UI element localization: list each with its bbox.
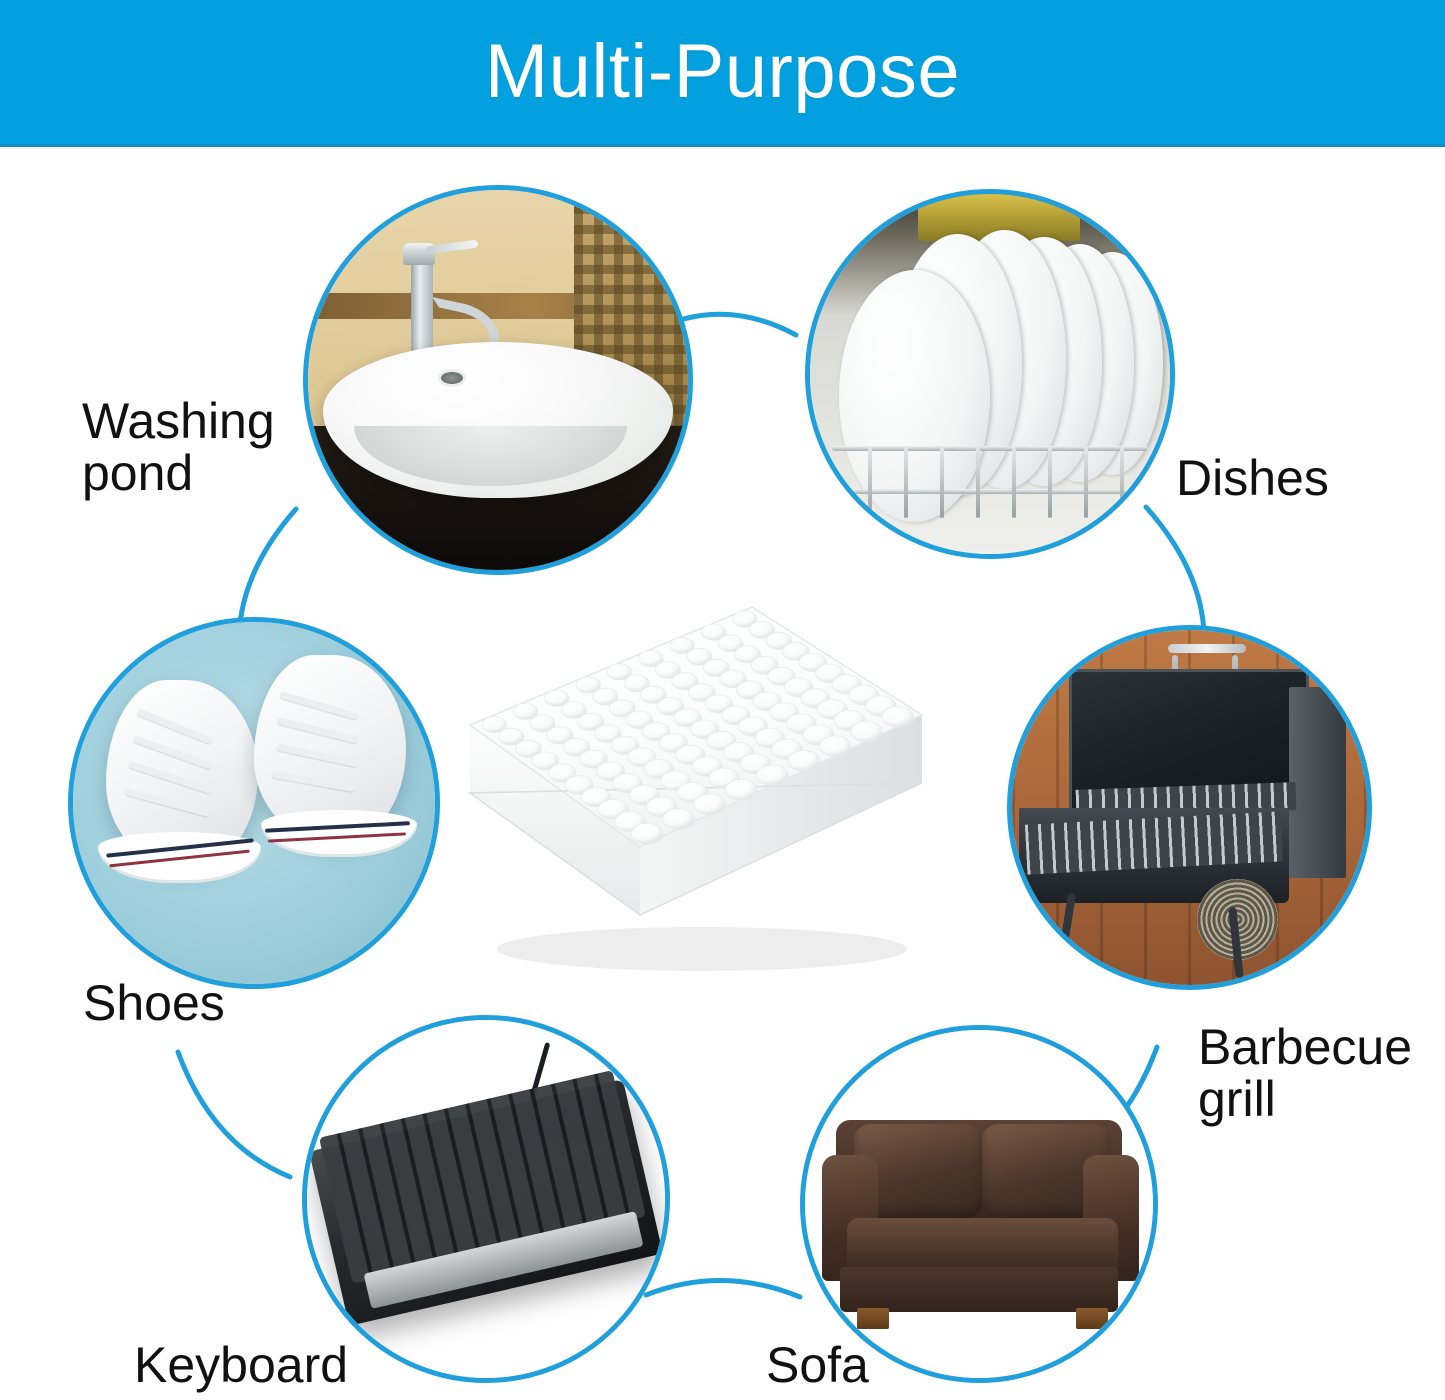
sponge-dimple — [694, 794, 726, 815]
page-title: Multi-Purpose — [485, 34, 960, 110]
badge-barbecue-grill[interactable] — [1007, 625, 1372, 990]
badge-washing-pond[interactable] — [303, 185, 693, 575]
sponge-dimple — [725, 779, 757, 800]
keyboard-icon — [307, 1020, 665, 1378]
badge-keyboard[interactable] — [302, 1015, 670, 1383]
label-dishes: Dishes — [1176, 452, 1436, 504]
badge-sofa[interactable] — [800, 1025, 1158, 1383]
center-product-image — [452, 597, 932, 997]
arc-keyboard-shoes — [178, 1052, 290, 1177]
infographic-page: Multi-Purpose — [0, 0, 1445, 1400]
label-keyboard: Keyboard — [134, 1339, 434, 1391]
badge-dishes[interactable] — [805, 189, 1175, 559]
label-sofa: Sofa — [766, 1339, 986, 1391]
sponge-dimple — [851, 721, 883, 742]
sponge-dimple — [882, 707, 914, 728]
sponge-dimple — [631, 823, 663, 844]
sponge-dimple — [663, 809, 695, 830]
dishes-icon — [810, 194, 1170, 554]
sponge-dimple — [819, 736, 851, 757]
multi-purpose-diagram: Washing pond — [0, 147, 1445, 1400]
arc-sofa-keyboard — [646, 1280, 800, 1297]
melamine-sponge-block — [452, 597, 932, 997]
label-barbecue-grill: Barbecue grill — [1198, 1021, 1445, 1125]
header-banner: Multi-Purpose — [0, 0, 1445, 147]
grill-icon — [1012, 630, 1367, 985]
shoes-icon — [73, 622, 435, 984]
label-washing-pond: Washing pond — [82, 395, 332, 499]
sponge-dimple — [757, 765, 789, 786]
badge-shoes[interactable] — [68, 617, 440, 989]
sofa-icon — [805, 1030, 1153, 1378]
sink-icon — [308, 190, 688, 570]
sponge-dimple — [788, 750, 820, 771]
label-shoes: Shoes — [83, 977, 333, 1029]
